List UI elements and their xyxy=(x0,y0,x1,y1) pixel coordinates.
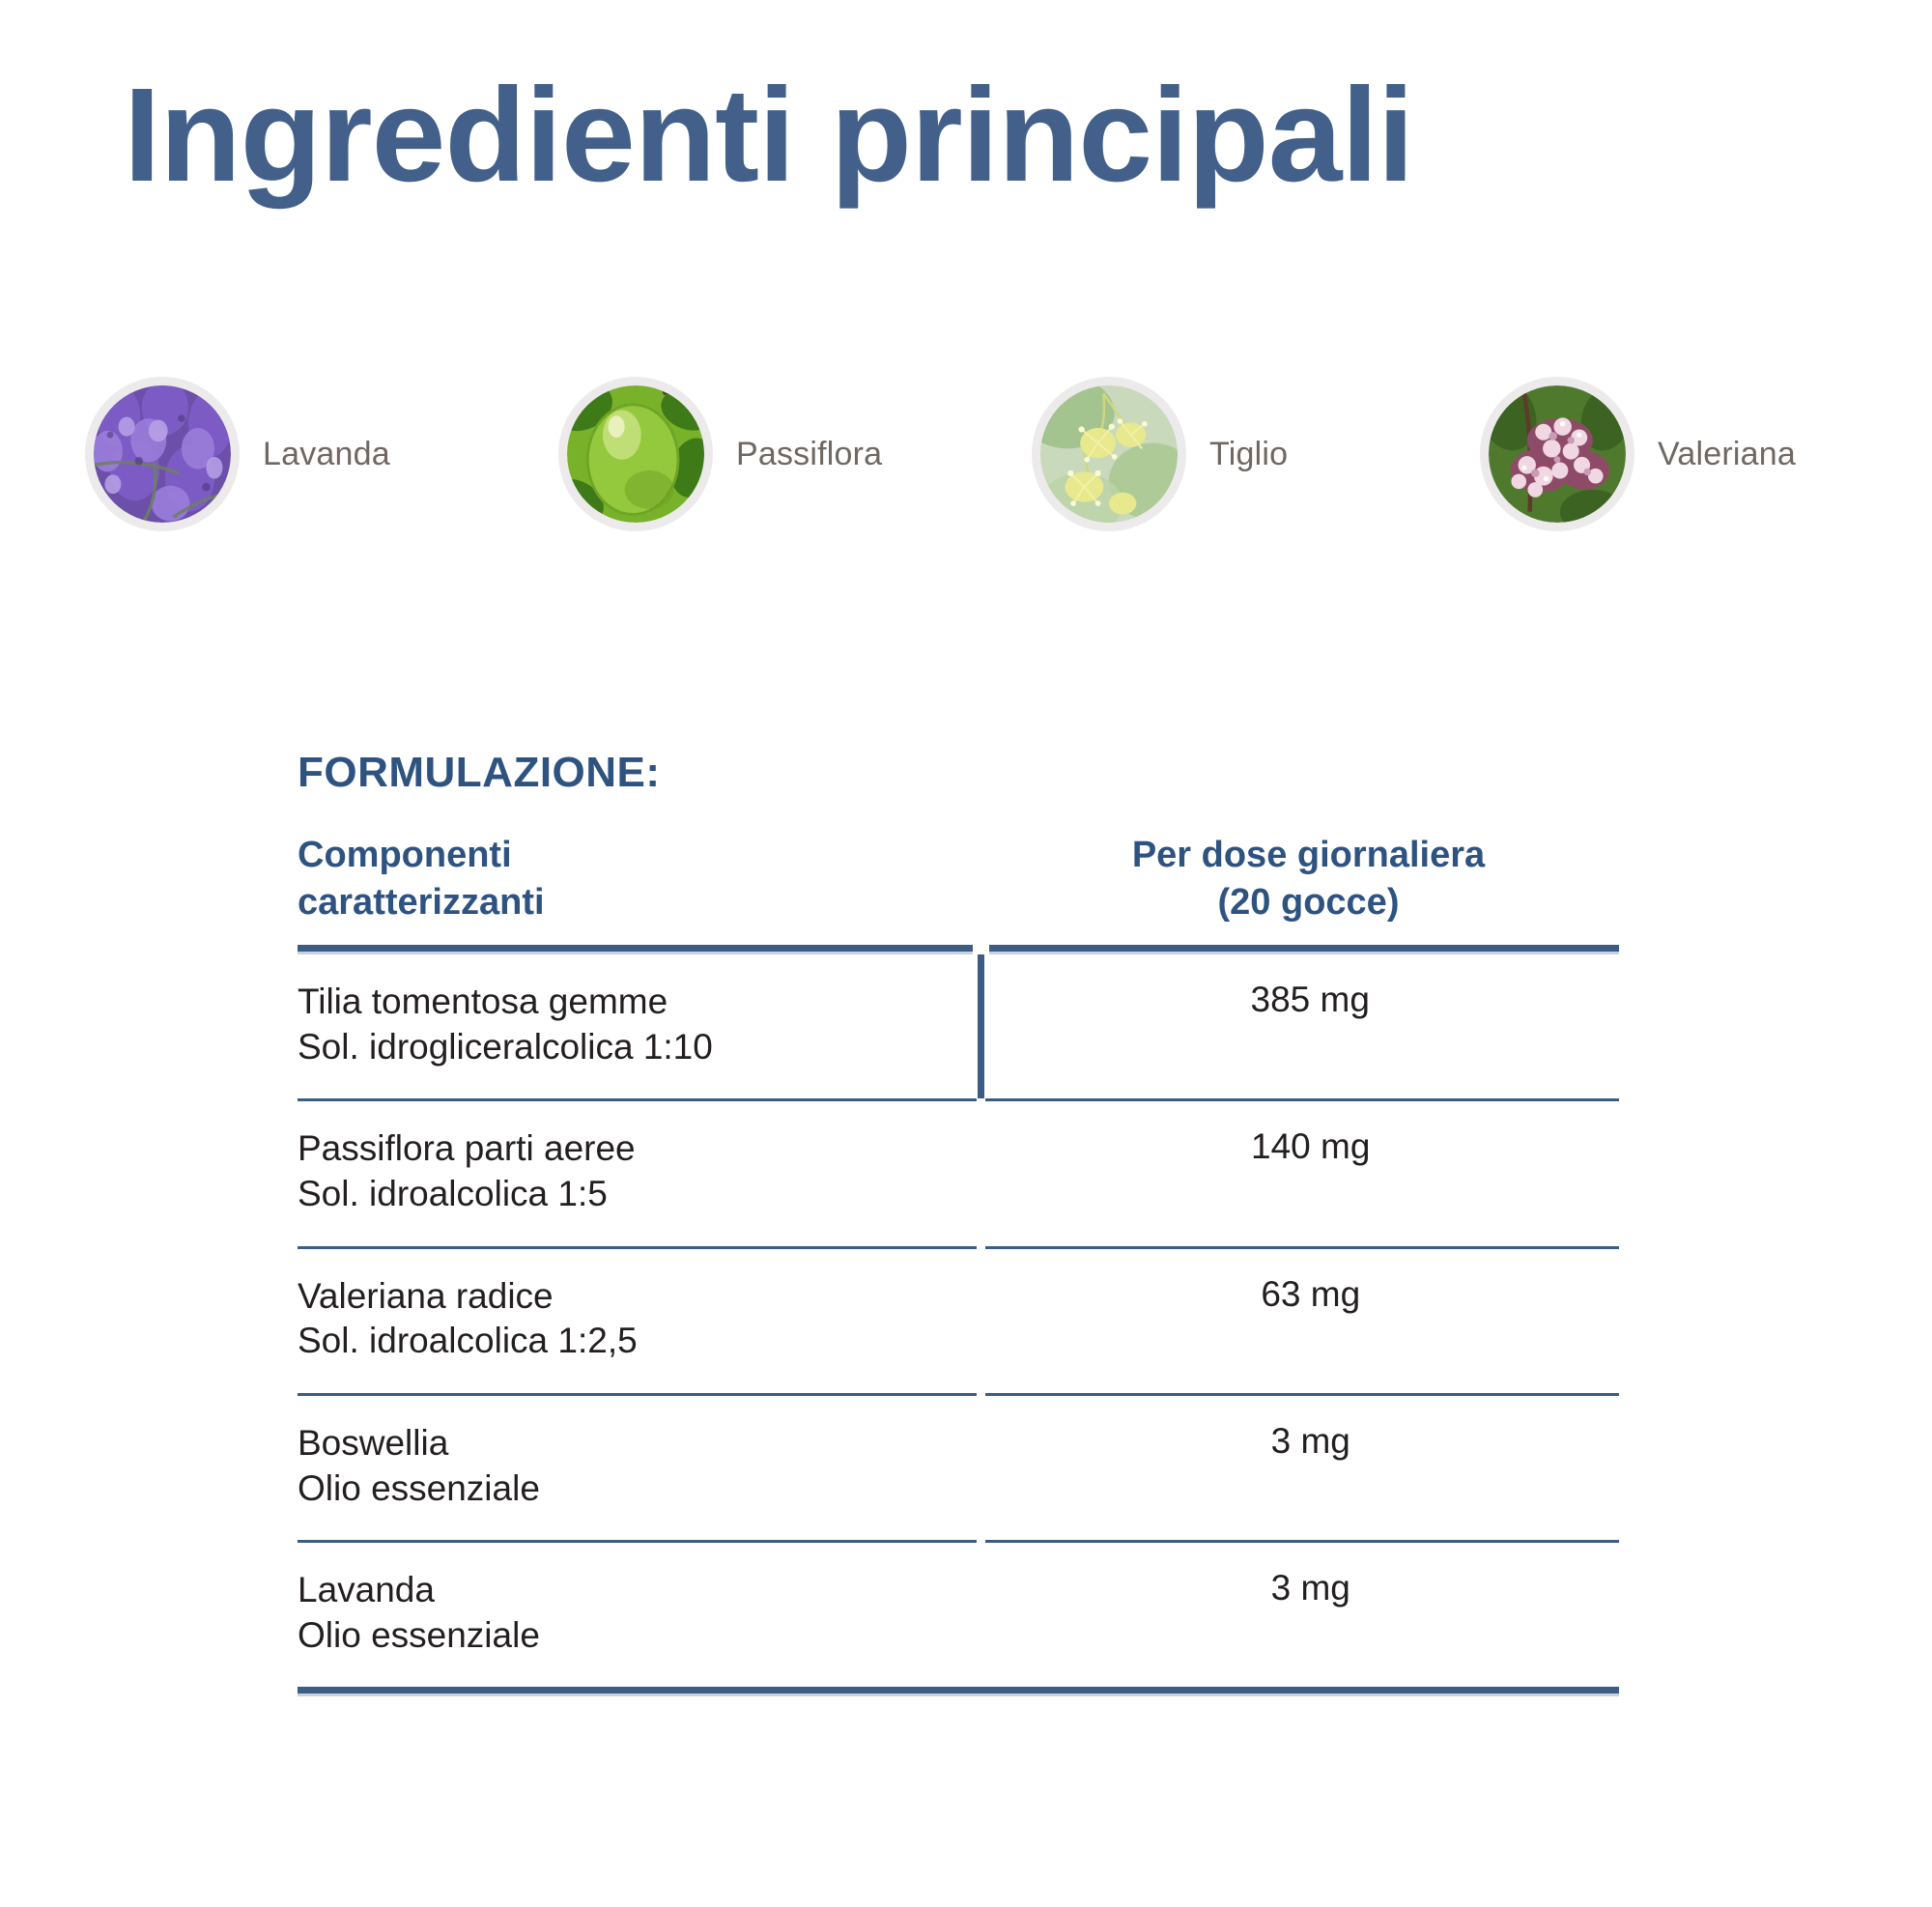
row-amount: 3 mg xyxy=(980,1542,1619,1688)
component-line1: Tilia tomentosa gemme xyxy=(298,982,668,1021)
column-header-components-line2: caratterizzanti xyxy=(298,882,545,923)
component-line1: Valeriana radice xyxy=(298,1276,554,1316)
component-line2: Olio essenziale xyxy=(298,1613,963,1659)
ingredient-label: Tiglio xyxy=(1209,436,1288,473)
table-bottom-rule xyxy=(298,1687,1619,1694)
linden-blossom-icon xyxy=(1032,377,1186,531)
ingredient-item-passiflora: Passiflora xyxy=(558,377,882,531)
table-row: Valeriana radice Sol. idroalcolica 1:2,5… xyxy=(298,1247,1619,1394)
component-line2: Sol. idroalcolica 1:5 xyxy=(298,1172,963,1217)
header-rule-left xyxy=(298,945,980,954)
ingredient-item-tiglio: Tiglio xyxy=(1032,377,1288,531)
ingredient-label: Valeriana xyxy=(1658,436,1796,473)
table-row: Passiflora parti aeree Sol. idroalcolica… xyxy=(298,1100,1619,1247)
column-header-components: Componenti caratterizzanti xyxy=(298,832,980,945)
row-component-name: Lavanda Olio essenziale xyxy=(298,1542,980,1688)
formulation-table: Componenti caratterizzanti Per dose gior… xyxy=(298,832,1619,1687)
row-amount: 63 mg xyxy=(980,1247,1619,1394)
table-row: Boswellia Olio essenziale 3 mg xyxy=(298,1394,1619,1541)
ingredient-label: Lavanda xyxy=(263,436,390,473)
table-header: Componenti caratterizzanti Per dose gior… xyxy=(298,832,1619,954)
ingredient-item-lavanda: Lavanda xyxy=(85,377,390,531)
component-line1: Lavanda xyxy=(298,1570,435,1609)
row-amount: 385 mg xyxy=(980,954,1619,1100)
ingredient-label: Passiflora xyxy=(736,436,882,473)
row-amount: 3 mg xyxy=(980,1394,1619,1541)
ingredient-item-valeriana: Valeriana xyxy=(1480,377,1796,531)
component-line1: Passiflora parti aeree xyxy=(298,1128,636,1168)
column-header-dose-line2: (20 gocce) xyxy=(1218,882,1400,923)
component-line2: Sol. idrogliceralcolica 1:10 xyxy=(298,1025,964,1070)
column-header-dose: Per dose giornaliera (20 gocce) xyxy=(980,832,1619,945)
passionfruit-icon xyxy=(558,377,713,531)
table-row: Lavanda Olio essenziale 3 mg xyxy=(298,1542,1619,1688)
row-component-name: Passiflora parti aeree Sol. idroalcolica… xyxy=(298,1100,980,1247)
valerian-flowers-icon xyxy=(1480,377,1634,531)
table-body: Tilia tomentosa gemme Sol. idrogliceralc… xyxy=(298,954,1619,1687)
row-amount: 140 mg xyxy=(980,1100,1619,1247)
component-line2: Sol. idroalcolica 1:2,5 xyxy=(298,1319,963,1364)
row-component-name: Boswellia Olio essenziale xyxy=(298,1394,980,1541)
row-component-name: Tilia tomentosa gemme Sol. idrogliceralc… xyxy=(298,954,980,1100)
formulation-section: FORMULAZIONE: Componenti caratterizzanti… xyxy=(298,749,1619,1694)
lavender-flowers-icon xyxy=(85,377,240,531)
ingredients-row: Lavanda xyxy=(0,377,1932,580)
table-row: Tilia tomentosa gemme Sol. idrogliceralc… xyxy=(298,954,1619,1100)
column-header-dose-line1: Per dose giornaliera xyxy=(1132,835,1485,875)
formulation-heading: FORMULAZIONE: xyxy=(298,749,1619,797)
header-rule-right xyxy=(980,945,1619,954)
component-line2: Olio essenziale xyxy=(298,1466,963,1512)
page-title: Ingredienti principali xyxy=(124,66,1413,206)
row-component-name: Valeriana radice Sol. idroalcolica 1:2,5 xyxy=(298,1247,980,1394)
column-header-components-line1: Componenti xyxy=(298,835,512,875)
component-line1: Boswellia xyxy=(298,1423,448,1463)
